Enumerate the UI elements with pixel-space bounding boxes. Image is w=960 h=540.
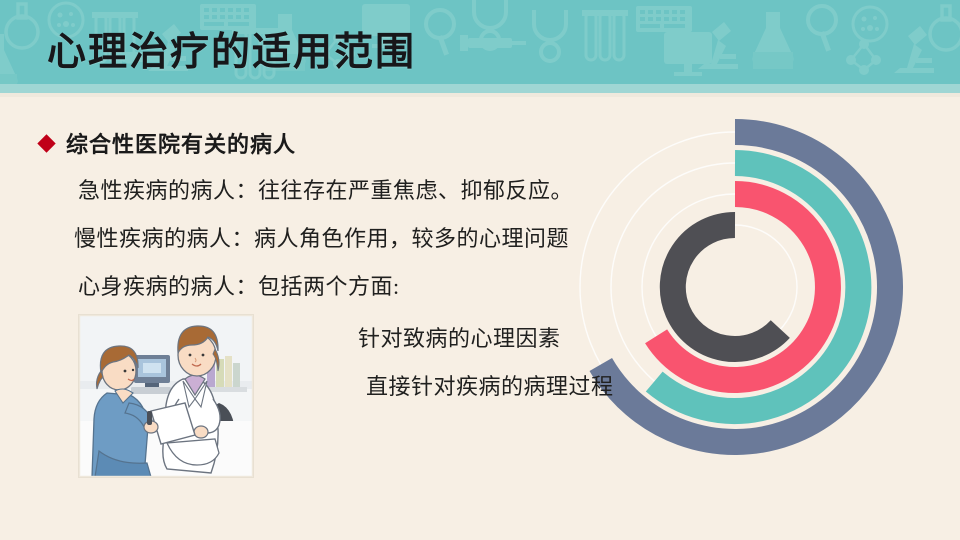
header-divider-band [0, 84, 960, 93]
illustration-svg [79, 315, 253, 477]
slide-content: 综合性医院有关的病人 急性疾病的病人：往往存在严重焦虑、抑郁反应。 慢性疾病的病… [0, 97, 960, 540]
outer-slate-arc [601, 132, 890, 442]
heading-bullet-row: 综合性医院有关的病人 [40, 127, 296, 159]
body-line-chronic-illness: 慢性疾病的病人：病人角色作用，较多的心理问题 [74, 221, 569, 253]
guide-ring-4 [673, 225, 797, 349]
diamond-bullet-icon [37, 134, 55, 152]
body-line-acute-illness: 急性疾病的病人：往往存在严重焦虑、抑郁反应。 [78, 173, 573, 205]
doctor-patient-consultation-illustration [79, 315, 253, 477]
body-line-pathological-process: 直接针对疾病的病理过程 [366, 369, 614, 401]
teal-arc [654, 163, 858, 411]
pink-arc [656, 194, 828, 380]
body-line-psychosomatic: 心身疾病的病人：包括两个方面: [78, 269, 400, 301]
guide-ring-2 [611, 163, 859, 411]
slide-root: 心理治疗的适用范围 综合性医院有关的病人 [0, 0, 960, 540]
guide-ring-3 [642, 194, 828, 380]
body-line-psych-factors: 针对致病的心理因素 [358, 321, 561, 353]
inner-gray-arc [673, 225, 781, 349]
page-title: 心理治疗的适用范围 [47, 21, 416, 77]
section-heading: 综合性医院有关的病人 [66, 127, 296, 159]
guide-ring-1 [580, 132, 890, 442]
slide-header: 心理治疗的适用范围 [0, 0, 960, 84]
